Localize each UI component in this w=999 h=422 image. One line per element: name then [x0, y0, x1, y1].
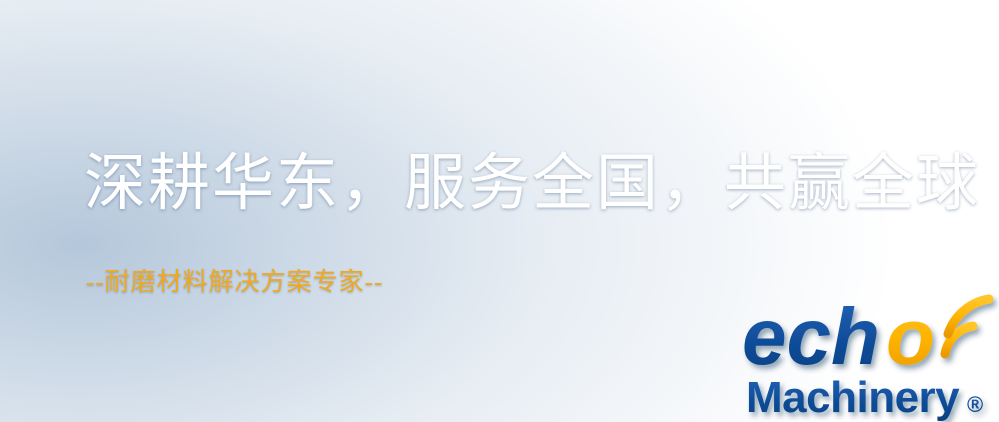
logo-o-text: o — [886, 292, 935, 381]
banner-subtitle: --耐磨材料解决方案专家-- — [86, 268, 383, 298]
hero-banner: 深耕华东，服务全国，共赢全球 --耐磨材料解决方案专家-- — [0, 0, 999, 422]
logo-wordmark-ech: ech — [742, 292, 880, 381]
logo-trademark-symbol: ® — [967, 392, 983, 417]
logo-machinery-text: Machinery — [746, 373, 960, 422]
logo-tagline-group: Machinery ® — [746, 373, 983, 422]
echo-machinery-logo[interactable]: ech o Machinery ® — [742, 292, 999, 422]
banner-headline: 深耕华东，服务全国，共赢全球 — [84, 152, 980, 217]
signal-waves-icon — [945, 299, 989, 354]
logo-ech-text: ech — [742, 292, 880, 381]
logo-wordmark-o: o — [886, 292, 935, 381]
